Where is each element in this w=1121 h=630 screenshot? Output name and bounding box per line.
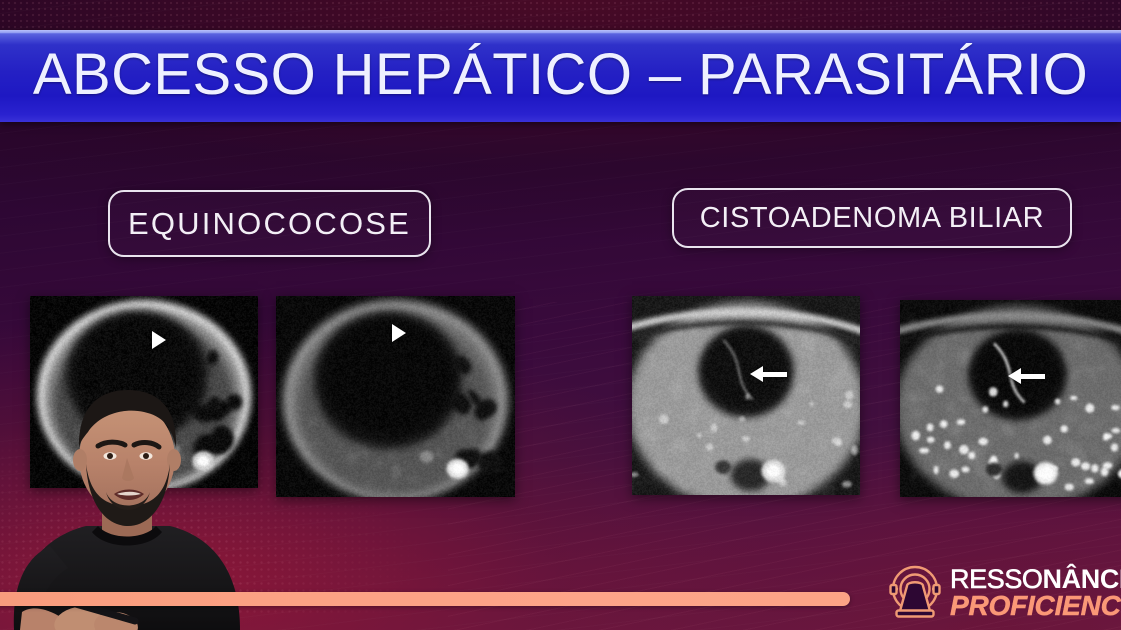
section-label-text: EQUINOCOCOSE <box>128 206 411 242</box>
page-title: ABCESSO HEPÁTICO – PARASITÁRIO <box>0 46 1121 104</box>
logo-line-1: RESSONÂNCIA <box>950 567 1121 592</box>
logo-wordmark: RESSONÂNCIA PROFICIENCY <box>950 567 1121 618</box>
section-label-cistoadenoma-biliar: CISTOADENOMA BILIAR <box>672 188 1072 248</box>
brand-logo: RESSONÂNCIA PROFICIENCY <box>884 562 1121 624</box>
logo-text-proficiency: PROFICIENCY <box>950 593 1121 619</box>
section-label-text: CISTOADENOMA BILIAR <box>700 202 1044 235</box>
mri-scanner-icon <box>884 564 946 622</box>
title-band: ABCESSO HEPÁTICO – PARASITÁRIO <box>0 30 1121 122</box>
mri-image-4 <box>900 300 1121 497</box>
bottom-accent-bar <box>0 592 850 606</box>
section-label-equinococose: EQUINOCOCOSE <box>108 190 431 257</box>
mri-image-2 <box>276 296 515 497</box>
mri-image-3 <box>632 296 860 495</box>
mri-image-1 <box>30 296 258 488</box>
slide-root: ABCESSO HEPÁTICO – PARASITÁRIO EQUINOCOC… <box>0 0 1121 630</box>
